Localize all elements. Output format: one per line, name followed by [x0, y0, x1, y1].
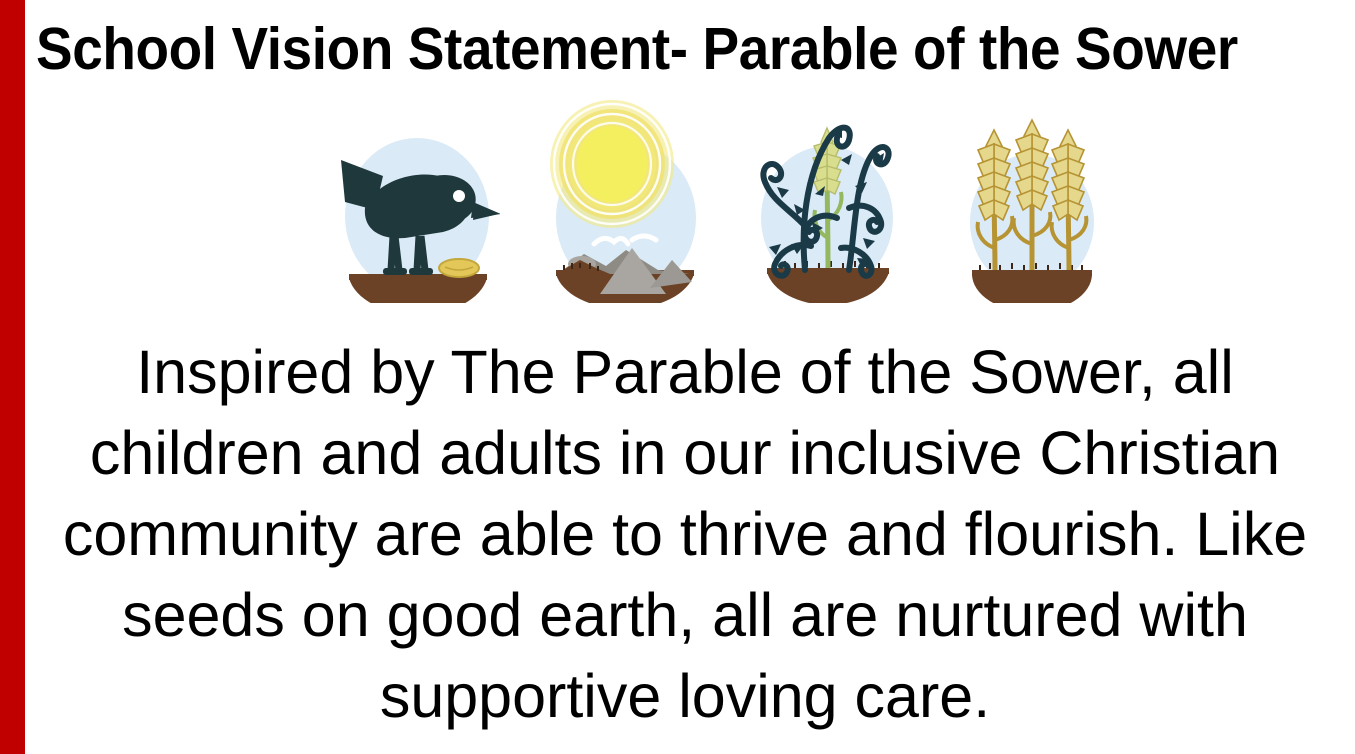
page-title: School Vision Statement- Parable of the …: [36, 14, 1254, 86]
vision-statement-slide: School Vision Statement- Parable of the …: [0, 0, 1355, 754]
thorns-choking-wheat-icon: [745, 98, 910, 303]
parable-soil-types-icon-row: [335, 98, 1115, 303]
left-red-accent-bar: [0, 0, 25, 754]
vision-line-5: supportive loving care.: [30, 656, 1340, 737]
vision-line-2: children and adults in our inclusive Chr…: [30, 413, 1340, 494]
vision-statement-body: Inspired by The Parable of the Sower, al…: [30, 332, 1340, 737]
vision-line-1: Inspired by The Parable of the Sower, al…: [30, 332, 1340, 413]
bird-eating-seed-on-path-icon: [335, 98, 500, 303]
sun-over-rocky-ground-icon: [540, 98, 705, 303]
vision-line-4: seeds on good earth, all are nurtured wi…: [30, 575, 1340, 656]
wheat-harvest-good-soil-icon: [950, 98, 1115, 303]
vision-line-3: community are able to thrive and flouris…: [30, 494, 1340, 575]
